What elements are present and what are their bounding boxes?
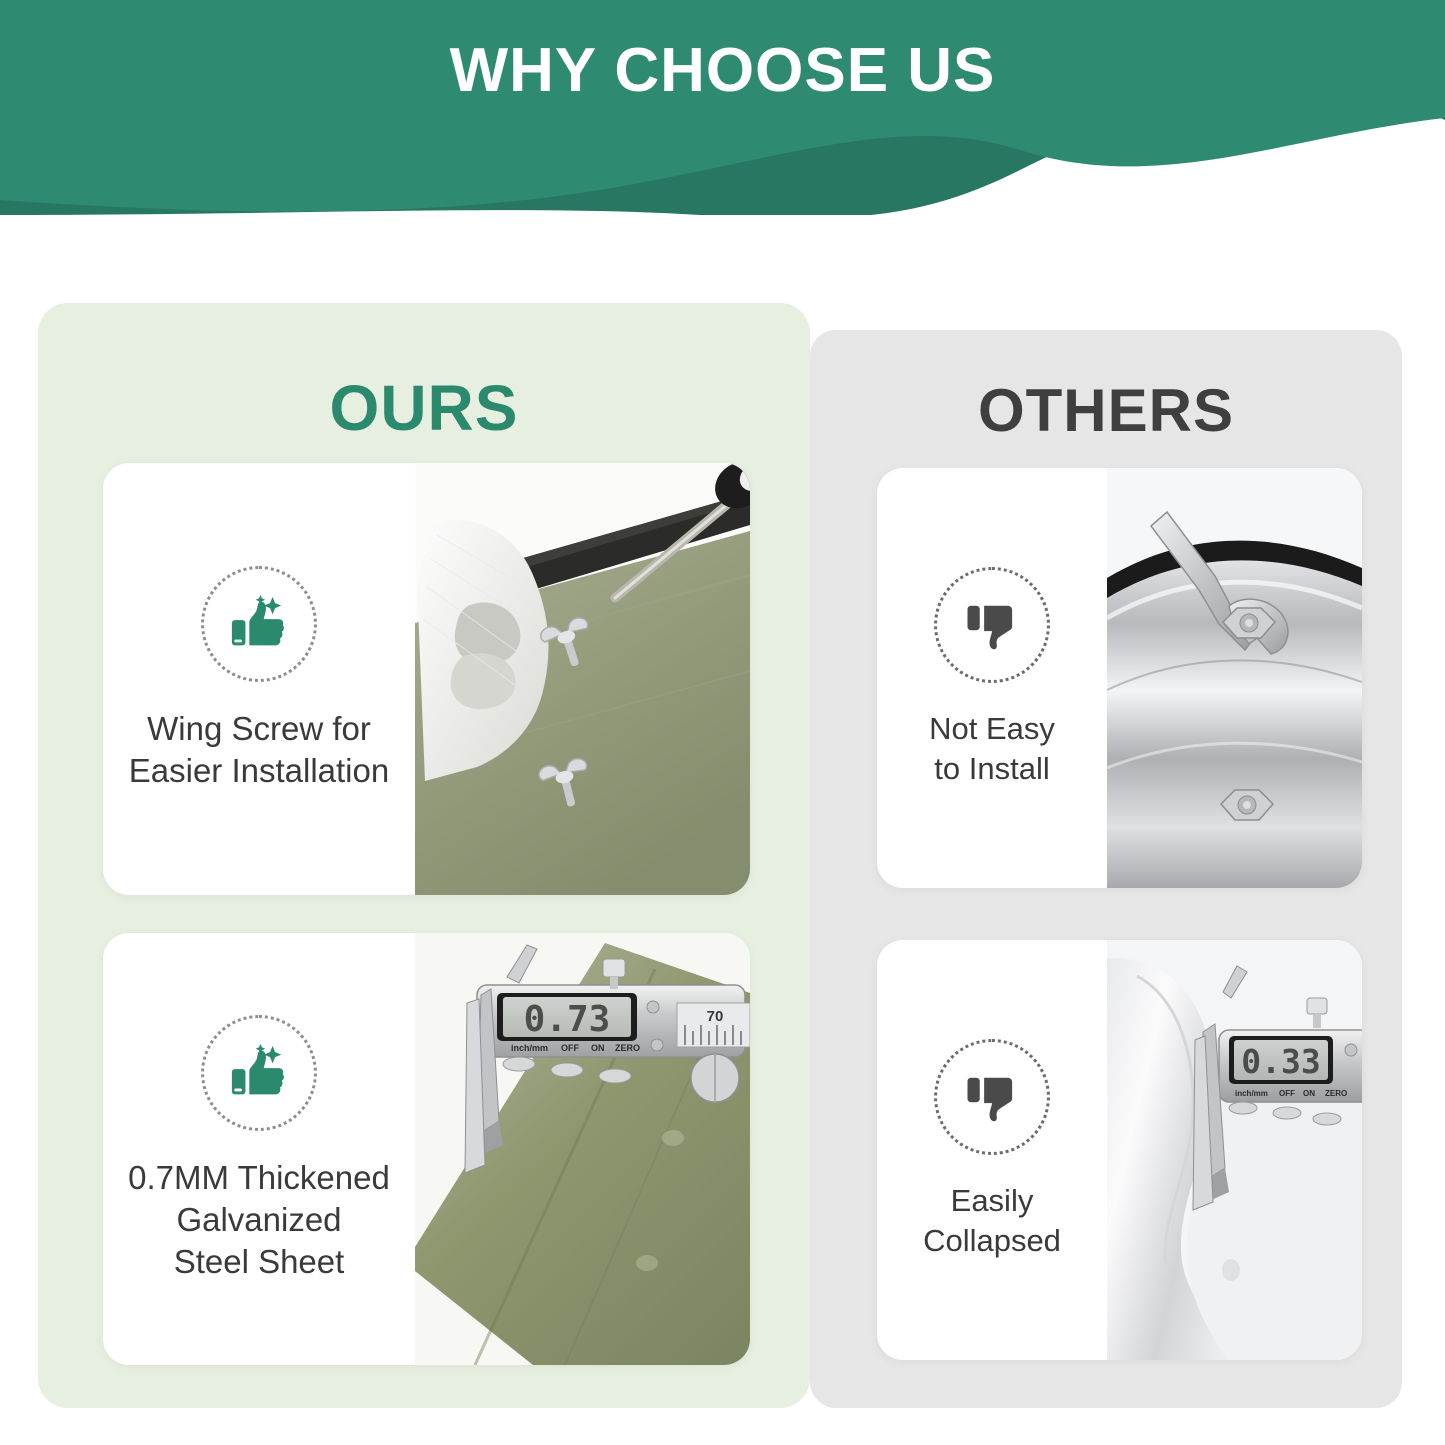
ours-heading: OURS (38, 371, 810, 445)
caliper-btn-label-off: OFF (561, 1043, 579, 1053)
thumbs-down-icon (934, 1039, 1050, 1155)
card-text-column: Easily Collapsed (877, 940, 1107, 1360)
page-title: WHY CHOOSE US (0, 38, 1445, 103)
others-feature-2-label: Easily Collapsed (923, 1181, 1061, 1260)
ours-feature-card-2[interactable]: 0.7MM Thickened Galvanized Steel Sheet (103, 933, 750, 1365)
others-feature-card-2[interactable]: Easily Collapsed (877, 940, 1362, 1360)
card-text-column: 0.7MM Thickened Galvanized Steel Sheet (103, 933, 415, 1365)
caliper-ruler-mark: 70 (707, 1008, 724, 1025)
others-feature-1-photo (1107, 468, 1362, 888)
caliper-reading-others: 0.33 (1241, 1042, 1320, 1081)
caliper-btn-label-inchmm: inch/mm (511, 1043, 548, 1053)
caliper-btn-label-zero: ZERO (615, 1043, 640, 1053)
others-feature-card-1[interactable]: Not Easy to Install (877, 468, 1362, 888)
thumbs-up-sparkle-icon (201, 566, 317, 682)
card-text-column: Wing Screw for Easier Installation (103, 463, 415, 895)
caliper-btn-label-inchmm: inch/mm (1235, 1089, 1268, 1098)
ours-feature-1-photo (415, 463, 750, 895)
caliper-btn-label-on: ON (591, 1043, 605, 1053)
thumbs-down-icon (934, 567, 1050, 683)
others-feature-2-photo: 0.33 inch/mm OFF ON ZERO (1107, 940, 1362, 1360)
thumbs-up-sparkle-icon (201, 1015, 317, 1131)
caliper-btn-label-off: OFF (1279, 1089, 1295, 1098)
ours-feature-2-label: 0.7MM Thickened Galvanized Steel Sheet (128, 1157, 390, 1284)
caliper-btn-label-on: ON (1303, 1089, 1315, 1098)
ours-feature-2-photo: 0.73 inch/mm OFF ON ZERO (415, 933, 750, 1365)
header-banner: WHY CHOOSE US (0, 0, 1445, 215)
header-wave-graphic (0, 0, 1445, 215)
ours-feature-1-label: Wing Screw for Easier Installation (129, 708, 389, 792)
ours-feature-card-1[interactable]: Wing Screw for Easier Installation (103, 463, 750, 895)
others-heading: OTHERS (810, 376, 1402, 445)
caliper-btn-label-zero: ZERO (1325, 1089, 1347, 1098)
card-text-column: Not Easy to Install (877, 468, 1107, 888)
others-feature-1-label: Not Easy to Install (929, 709, 1055, 788)
caliper-reading-ours: 0.73 (524, 999, 611, 1040)
